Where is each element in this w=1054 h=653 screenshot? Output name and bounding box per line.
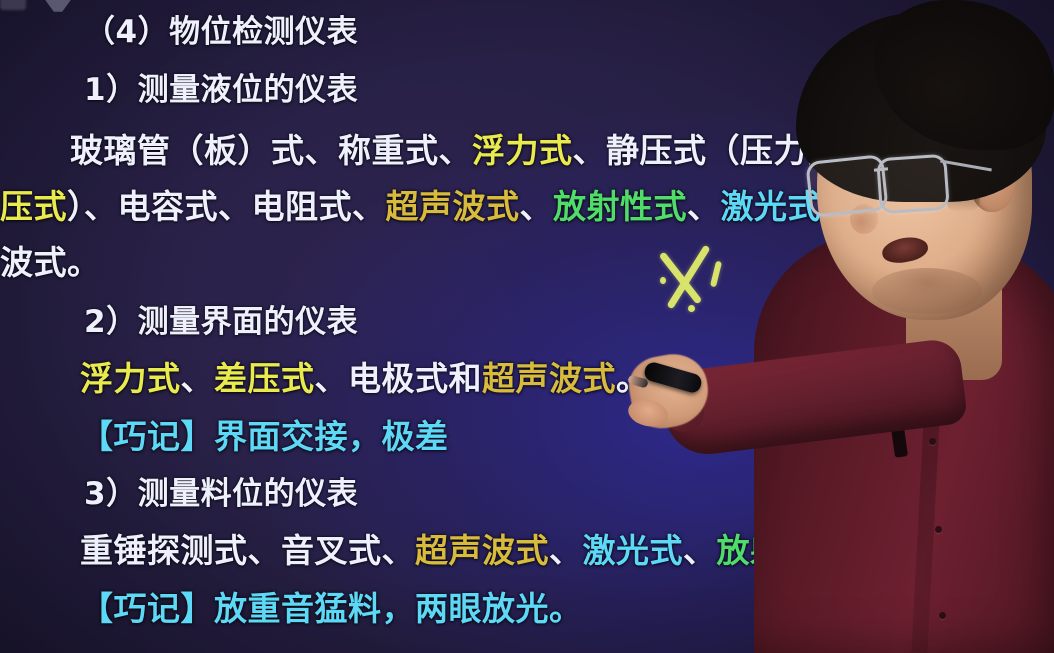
slide-line-2: 1）测量液位的仪表	[84, 64, 358, 109]
text-segment-mnemonic: 【巧记】放重音猛料，两眼放光。	[80, 589, 583, 628]
text-segment-highlight-differential-cont: 压式	[0, 187, 67, 226]
text-segment: （4）物位检测仪表	[84, 14, 358, 50]
slide-line-6: 2）测量界面的仪表	[84, 296, 358, 341]
glasses-lens-left	[805, 154, 888, 218]
shirt-button-icon	[939, 612, 946, 619]
slide-line-9: 3）测量料位的仪表	[84, 468, 358, 513]
slide-line-1: （4）物位检测仪表	[84, 6, 358, 51]
slide-line-11-mnemonic: 【巧记】放重音猛料，两眼放光。	[80, 582, 583, 630]
text-segment-highlight-ultrasonic: 超声波式	[482, 359, 616, 398]
text-segment-mnemonic: 【巧记】界面交接，极差	[80, 417, 449, 456]
text-segment-highlight-buoyancy: 浮力式	[472, 131, 573, 170]
text-segment: 重锤探测式、音叉式、	[80, 531, 415, 570]
text-segment: 、	[549, 531, 583, 570]
slide-line-8-mnemonic: 【巧记】界面交接，极差	[80, 410, 449, 458]
shirt-button-icon	[929, 438, 936, 445]
slide-line-5: 波式。	[0, 236, 101, 284]
text-segment-highlight-ultrasonic: 超声波式	[386, 187, 520, 226]
glasses-lens-right	[876, 154, 950, 215]
text-segment: 、	[181, 359, 215, 398]
text-segment-highlight-differential: 差压式	[214, 359, 315, 398]
presenter-chin-shadow	[872, 268, 982, 314]
text-segment: 、	[520, 187, 554, 226]
presenter	[654, 0, 1054, 653]
text-segment-highlight-ultrasonic: 超声波式	[415, 531, 549, 570]
glasses-icon	[812, 156, 962, 216]
text-segment: 、电极式和	[315, 359, 483, 398]
text-segment: 玻璃管（板）式、称重式、	[70, 131, 472, 170]
text-segment: 1）测量液位的仪表	[84, 72, 358, 108]
slide-line-7: 浮力式、差压式、电极式和超声波式。	[80, 352, 650, 400]
text-segment: 2）测量界面的仪表	[84, 304, 358, 340]
video-frame: （4）物位检测仪表 1）测量液位的仪表 玻璃管（板）式、称重式、浮力式、静压式（…	[0, 0, 1054, 653]
text-segment: 波式。	[0, 243, 101, 282]
shirt-button-icon	[935, 526, 942, 533]
text-segment-highlight-buoyancy: 浮力式	[80, 359, 181, 398]
text-segment: ）、电容式、电阻式、	[67, 187, 386, 226]
text-segment: 3）测量料位的仪表	[84, 476, 358, 512]
